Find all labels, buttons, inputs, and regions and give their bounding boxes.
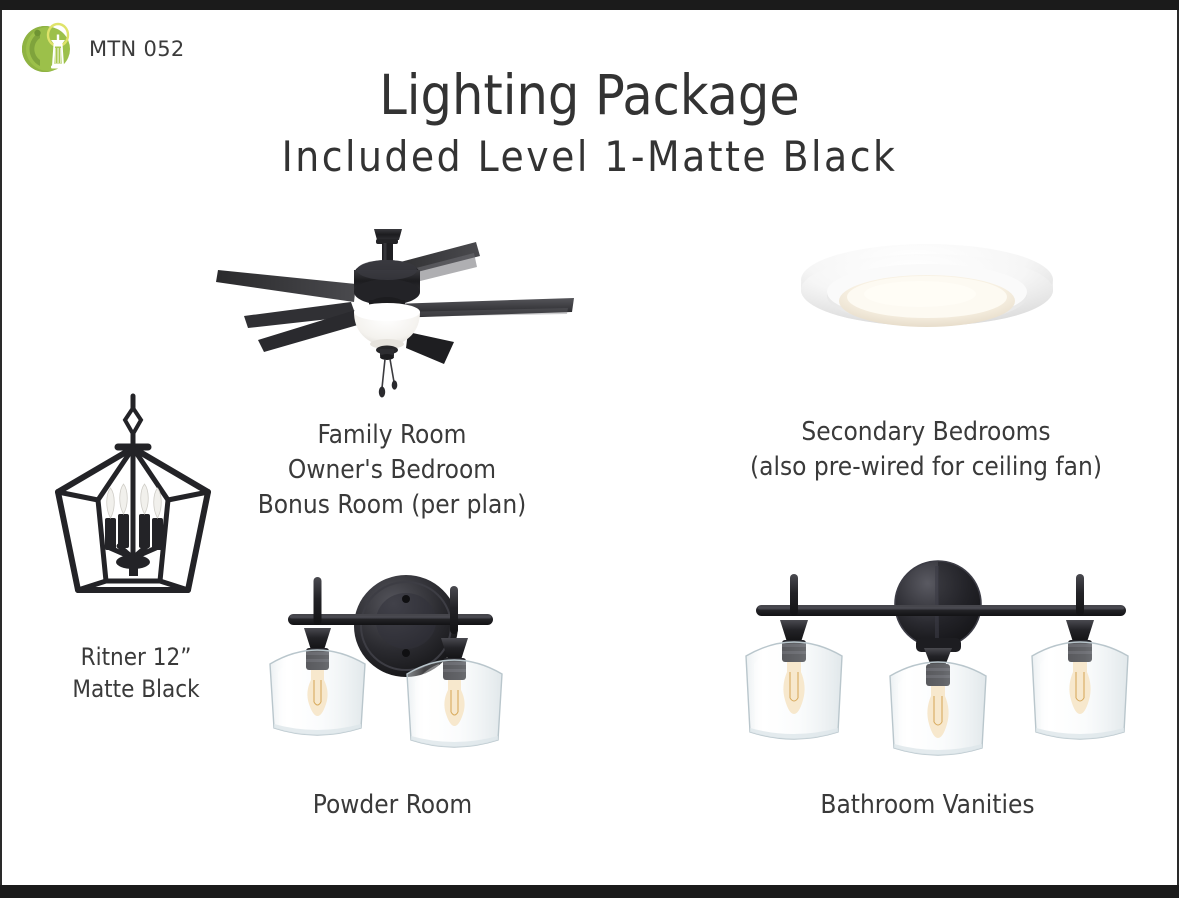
caption-bathroom-vanities: Bathroom Vanities — [735, 788, 1120, 823]
lantern-logo-icon — [18, 18, 80, 80]
bottom-letterbox-band — [0, 885, 1179, 898]
top-letterbox-band — [0, 0, 1179, 10]
flush-mount-disk-light-icon — [800, 238, 1055, 348]
lighting-package-slide: MTN 052 Lighting Package Included Level … — [0, 0, 1179, 898]
lantern-cage-pendant-icon — [26, 396, 241, 631]
logo-block: MTN 052 — [18, 18, 185, 80]
plan-code-label: MTN 052 — [89, 37, 185, 61]
three-light-vanity-icon — [730, 552, 1150, 770]
ceiling-fan-icon — [196, 212, 596, 412]
caption-flush-mount: Secondary Bedrooms (also pre-wired for c… — [740, 415, 1112, 485]
page-subtitle: Included Level 1-Matte Black — [0, 136, 1179, 178]
caption-lantern-pendant: Ritner 12” Matte Black — [26, 641, 246, 705]
left-border-line — [0, 10, 2, 885]
two-light-vanity-icon — [258, 552, 528, 770]
caption-powder-room: Powder Room — [240, 788, 545, 823]
caption-ceiling-fan: Family Room Owner's Bedroom Bonus Room (… — [226, 418, 558, 523]
